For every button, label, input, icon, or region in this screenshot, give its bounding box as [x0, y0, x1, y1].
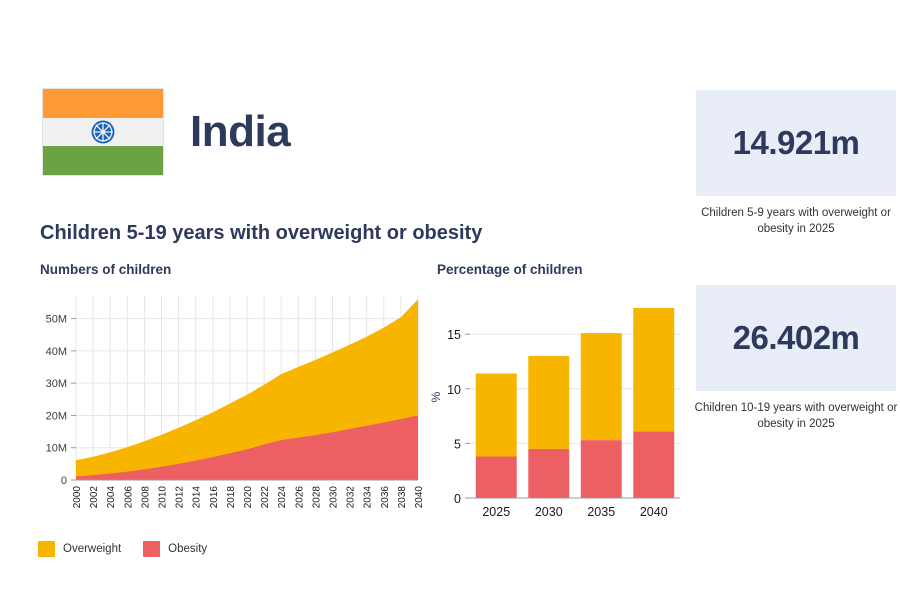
svg-text:2008: 2008: [140, 486, 151, 509]
legend-item-obesity[interactable]: Obesity: [143, 541, 207, 557]
svg-text:2024: 2024: [277, 486, 288, 509]
svg-text:2018: 2018: [226, 486, 237, 509]
legend-label-overweight: Overweight: [63, 543, 121, 555]
svg-text:2020: 2020: [243, 486, 254, 509]
legend-swatch-obesity-icon: [143, 541, 160, 557]
flag-band-green: [43, 146, 163, 175]
svg-text:40M: 40M: [46, 346, 67, 358]
section-title: Children 5-19 years with overweight or o…: [40, 222, 482, 245]
svg-text:2002: 2002: [89, 486, 100, 509]
svg-text:2040: 2040: [640, 505, 668, 519]
svg-text:2032: 2032: [346, 486, 357, 509]
flag-band-saffron: [43, 89, 163, 118]
svg-text:2035: 2035: [587, 505, 615, 519]
legend-swatch-overweight-icon: [38, 541, 55, 557]
chart-legend: Overweight Obesity: [38, 541, 207, 557]
infographic-page: India Children 5-19 years with overweigh…: [0, 0, 900, 600]
svg-text:10M: 10M: [46, 443, 67, 455]
bar-chart-svg: 0510152025203020352040%: [426, 288, 688, 538]
stat-value-10-19-years: 26.402m: [733, 319, 860, 357]
svg-text:2030: 2030: [329, 486, 340, 509]
svg-text:2038: 2038: [397, 486, 408, 509]
svg-text:15: 15: [447, 328, 461, 342]
svg-text:5: 5: [454, 437, 461, 451]
stat-card-5-9-years: 14.921m: [696, 90, 896, 196]
svg-text:2000: 2000: [72, 486, 83, 509]
ashoka-chakra-icon: [90, 119, 116, 145]
svg-text:2034: 2034: [363, 486, 374, 509]
svg-text:10: 10: [447, 383, 461, 397]
svg-text:2030: 2030: [535, 505, 563, 519]
svg-text:%: %: [429, 391, 443, 402]
svg-text:2006: 2006: [123, 486, 134, 509]
svg-text:2036: 2036: [380, 486, 391, 509]
india-flag-icon: [42, 88, 164, 176]
stat-value-5-9-years: 14.921m: [733, 124, 860, 162]
legend-item-overweight[interactable]: Overweight: [38, 541, 121, 557]
svg-text:20M: 20M: [46, 410, 67, 422]
svg-text:2014: 2014: [192, 486, 203, 509]
area-chart-svg: 010M20M30M40M50M200020022004200620082010…: [28, 288, 428, 538]
svg-text:0: 0: [454, 492, 461, 506]
svg-text:2040: 2040: [414, 486, 425, 509]
legend-label-obesity: Obesity: [168, 543, 207, 555]
svg-text:2004: 2004: [106, 486, 117, 509]
stat-caption-5-9-years: Children 5-9 years with overweight or ob…: [692, 206, 900, 237]
chart-subtitle-percentage: Percentage of children: [437, 262, 583, 277]
svg-text:30M: 30M: [46, 378, 67, 390]
svg-text:2016: 2016: [209, 486, 220, 509]
svg-text:2012: 2012: [175, 486, 186, 509]
svg-text:2026: 2026: [294, 486, 305, 509]
svg-text:50M: 50M: [46, 314, 67, 326]
svg-text:0: 0: [61, 475, 67, 487]
svg-text:2022: 2022: [260, 486, 271, 509]
bar-chart-percentage-of-children: 0510152025203020352040%: [426, 288, 688, 538]
area-chart-numbers-of-children: 010M20M30M40M50M200020022004200620082010…: [28, 288, 428, 538]
stat-caption-10-19-years: Children 10-19 years with overweight or …: [692, 401, 900, 432]
svg-text:2010: 2010: [158, 486, 169, 509]
stat-card-10-19-years: 26.402m: [696, 285, 896, 391]
country-header: India: [42, 88, 290, 176]
country-name: India: [190, 107, 290, 157]
svg-text:2028: 2028: [311, 486, 322, 509]
chart-subtitle-numbers: Numbers of children: [40, 262, 171, 277]
svg-text:2025: 2025: [482, 505, 510, 519]
